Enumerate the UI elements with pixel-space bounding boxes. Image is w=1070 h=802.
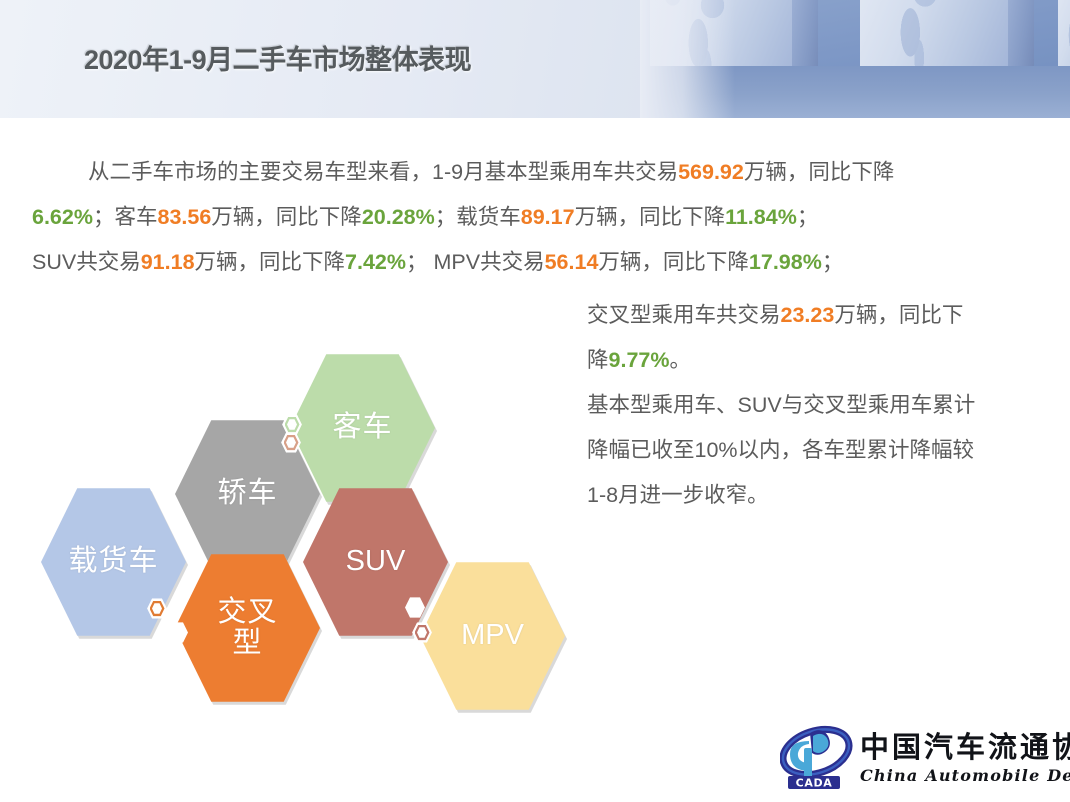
paragraph-text: 基本型乘用车、SUV与交叉型乘用车累计 bbox=[587, 395, 975, 417]
volume-value: 569.92 bbox=[678, 162, 744, 184]
logo-chinese-name: 中国汽车流通协会 bbox=[860, 724, 1070, 766]
main-paragraph-line: 6.62%；客车83.56万辆，同比下降20.28%；载货车89.17万辆，同比… bbox=[32, 207, 1042, 252]
volume-value: 83.56 bbox=[157, 207, 211, 229]
growth-percent-value: 7.42% bbox=[345, 252, 406, 274]
growth-percent-value: 6.62% bbox=[32, 207, 93, 229]
volume-value: 89.17 bbox=[521, 207, 575, 229]
main-paragraph-line: 从二手车市场的主要交易车型来看，1-9月基本型乘用车共交易569.92万辆，同比… bbox=[32, 162, 1042, 207]
banner-cube bbox=[860, 0, 1008, 76]
volume-value: 56.14 bbox=[545, 252, 599, 274]
paragraph-text: 1-8月进一步收窄。 bbox=[587, 485, 769, 507]
paragraph-text: 万辆，同比下 bbox=[834, 305, 963, 327]
cada-abbr-text: CADA bbox=[796, 777, 833, 790]
paragraph-text: ； bbox=[797, 207, 819, 229]
secondary-paragraph-line: 降幅已收至10%以内，各车型累计降幅较 bbox=[587, 440, 1047, 485]
growth-percent-value: 20.28% bbox=[362, 207, 435, 229]
secondary-paragraph-line: 交叉型乘用车共交易23.23万辆，同比下 bbox=[587, 305, 1047, 350]
paragraph-text: 万辆，同比下降 bbox=[211, 207, 362, 229]
cada-logo: CADA 中国汽车流通协会 China Automobile Dealers A… bbox=[780, 722, 1062, 792]
growth-percent-value: 9.77% bbox=[609, 350, 670, 372]
paragraph-text: ； bbox=[822, 252, 844, 274]
paragraph-text: ；客车 bbox=[93, 207, 158, 229]
paragraph-text: 。 bbox=[669, 350, 691, 372]
volume-value: 23.23 bbox=[781, 305, 835, 327]
main-summary-paragraph: 从二手车市场的主要交易车型来看，1-9月基本型乘用车共交易569.92万辆，同比… bbox=[32, 162, 1042, 297]
logo-english-name: China Automobile Dealers Association bbox=[860, 766, 1070, 785]
paragraph-text: ； MPV共交易 bbox=[406, 252, 545, 274]
hexagon-jiaocha[interactable]: 交叉型 bbox=[175, 552, 320, 704]
cada-emblem-icon: CADA bbox=[780, 724, 854, 790]
paragraph-text: 从二手车市场的主要交易车型来看，1-9月基本型乘用车共交易 bbox=[88, 162, 678, 184]
paragraph-text: 万辆，同比下降 bbox=[598, 252, 749, 274]
hexagon-suv[interactable]: SUV bbox=[303, 486, 448, 638]
paragraph-text: SUV共交易 bbox=[32, 252, 141, 274]
hexagon-label: 交叉型 bbox=[217, 597, 277, 660]
growth-percent-value: 11.84% bbox=[725, 207, 797, 229]
main-paragraph-line: SUV共交易91.18万辆，同比下降7.42%； MPV共交易56.14万辆，同… bbox=[32, 252, 1042, 297]
paragraph-text: 降幅已收至10%以内，各车型累计降幅较 bbox=[587, 440, 974, 462]
secondary-paragraph-line: 1-8月进一步收窄。 bbox=[587, 485, 1047, 530]
paragraph-text: 万辆，同比下降 bbox=[575, 207, 726, 229]
secondary-paragraph-line: 基本型乘用车、SUV与交叉型乘用车累计 bbox=[587, 395, 1047, 440]
slide-header-band: 2020年1-9月二手车市场整体表现 bbox=[0, 0, 1070, 118]
world-map-texture bbox=[1058, 0, 1070, 75]
secondary-summary-paragraph: 交叉型乘用车共交易23.23万辆，同比下降9.77%。基本型乘用车、SUV与交叉… bbox=[587, 305, 1047, 530]
world-map-texture bbox=[860, 0, 1008, 73]
hexagon-label: 客车 bbox=[332, 412, 392, 443]
paragraph-text: 万辆，同比下降 bbox=[195, 252, 346, 274]
page-title: 2020年1-9月二手车市场整体表现 bbox=[84, 38, 471, 77]
slide-canvas: 2020年1-9月二手车市场整体表现 从二手车市场的主要交易车型来看，1-9月基… bbox=[0, 0, 1070, 802]
paragraph-text: ；载货车 bbox=[435, 207, 521, 229]
hexagon-mpv[interactable]: MPV bbox=[420, 560, 565, 712]
paragraph-text: 交叉型乘用车共交易 bbox=[587, 305, 781, 327]
volume-value: 91.18 bbox=[141, 252, 195, 274]
hexagon-label: 轿车 bbox=[217, 478, 277, 509]
secondary-paragraph-line: 降9.77%。 bbox=[587, 350, 1047, 395]
blue-cubes-world-map-banner bbox=[640, 0, 1070, 118]
banner-left-fade bbox=[640, 0, 735, 118]
hexagon-label: SUV bbox=[346, 546, 406, 577]
vehicle-type-hexagon-cluster: 客车轿车载货车交叉型SUVMPV bbox=[38, 352, 598, 712]
paragraph-text: 万辆，同比下降 bbox=[744, 162, 895, 184]
hexagon-label: 载货车 bbox=[68, 546, 158, 577]
hexagon-zaihuo[interactable]: 载货车 bbox=[41, 486, 186, 638]
hexagon-label: MPV bbox=[461, 620, 524, 651]
growth-percent-value: 17.98% bbox=[749, 252, 822, 274]
